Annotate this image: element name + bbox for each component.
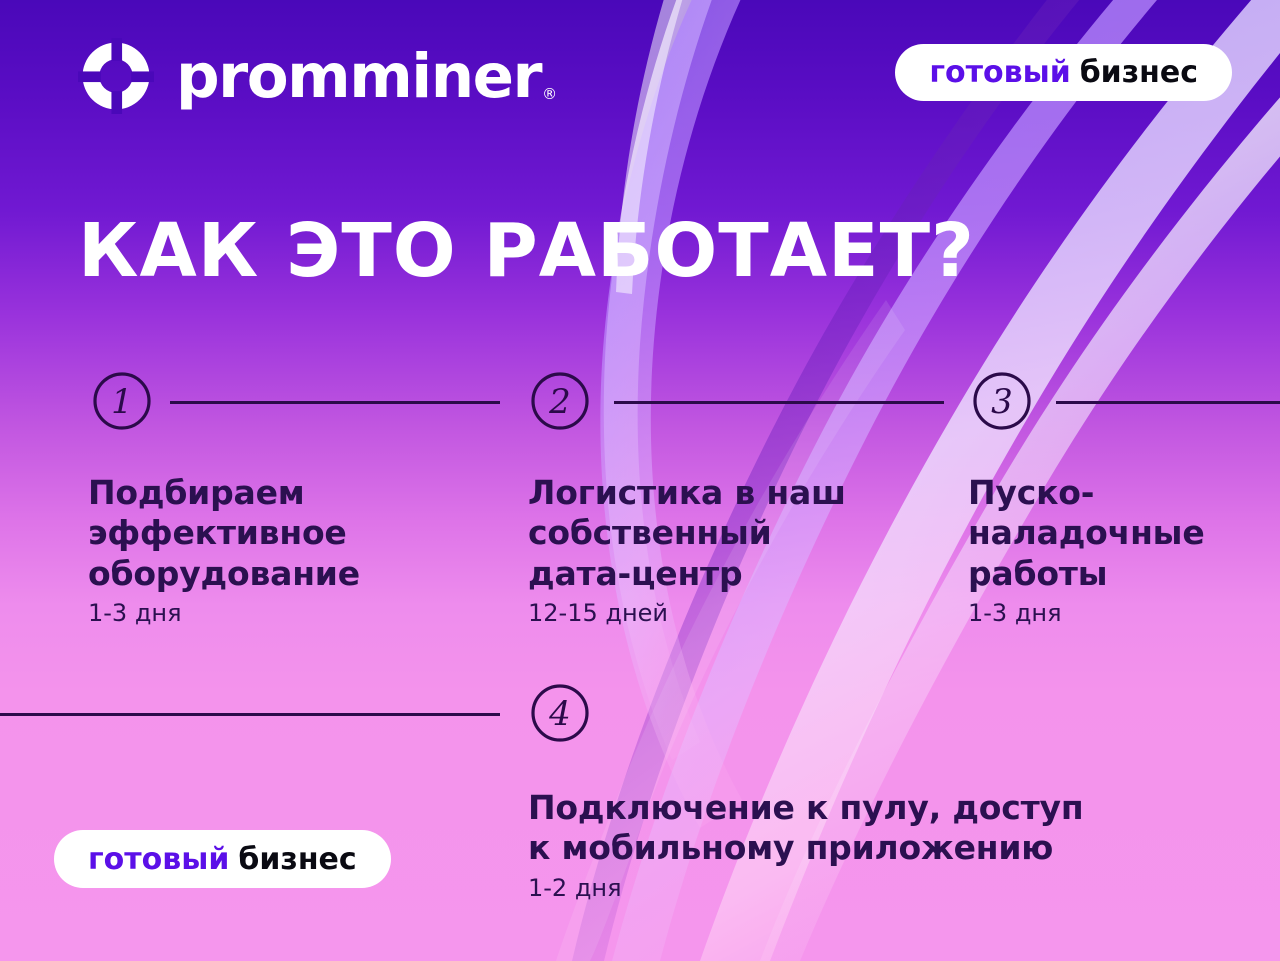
step-duration-1: 1-3 дня (88, 599, 508, 627)
step-duration-2: 12-15 дней (528, 599, 958, 627)
step-block-3: Пуско- наладочные работы 1-3 дня (968, 473, 1278, 627)
step-duration-3: 1-3 дня (968, 599, 1278, 627)
brand-name: promminer (176, 41, 541, 112)
badge-plain-word: бизнес (238, 842, 356, 877)
step-title-4: Подключение к пулу, доступ к мобильному … (528, 788, 1178, 869)
step-rule-3 (1056, 401, 1280, 404)
step-rule-1 (170, 401, 500, 404)
step-block-4: Подключение к пулу, доступ к мобильному … (528, 788, 1178, 902)
promminer-ring-mark-icon (78, 38, 154, 114)
step-marker-4: 4 (530, 683, 590, 743)
badge-gotovy-biznes-top[interactable]: готовый бизнес (895, 44, 1232, 101)
promo-slide: promminer® готовый бизнес КАК ЭТО РАБОТА… (0, 0, 1280, 961)
page-title: КАК ЭТО РАБОТАЕТ? (78, 214, 975, 288)
step-block-1: Подбираем эффективное оборудование 1-3 д… (88, 473, 508, 627)
step-block-2: Логистика в наш собственный дата-центр 1… (528, 473, 958, 627)
badge-highlight-word: готовый (88, 842, 229, 877)
badge-plain-word: бизнес (1080, 55, 1198, 90)
step-rule-4 (0, 713, 500, 716)
step-marker-3: 3 (972, 371, 1032, 431)
step-number-1: 1 (111, 382, 133, 422)
step-rule-2 (614, 401, 944, 404)
badge-highlight-word: готовый (929, 55, 1070, 90)
step-title-3: Пуско- наладочные работы (968, 473, 1278, 594)
registered-mark: ® (542, 85, 556, 103)
badge-gotovy-biznes-bottom[interactable]: готовый бизнес (54, 830, 391, 888)
brand-wordmark: promminer® (176, 46, 555, 107)
step-title-2: Логистика в наш собственный дата-центр (528, 473, 958, 594)
step-duration-4: 1-2 дня (528, 874, 1178, 902)
step-number-2: 2 (548, 382, 571, 422)
step-marker-2: 2 (530, 371, 590, 431)
brand-logo[interactable]: promminer® (78, 38, 555, 114)
step-number-3: 3 (991, 382, 1013, 422)
step-marker-1: 1 (92, 371, 152, 431)
step-title-1: Подбираем эффективное оборудование (88, 473, 508, 594)
step-number-4: 4 (548, 694, 571, 734)
